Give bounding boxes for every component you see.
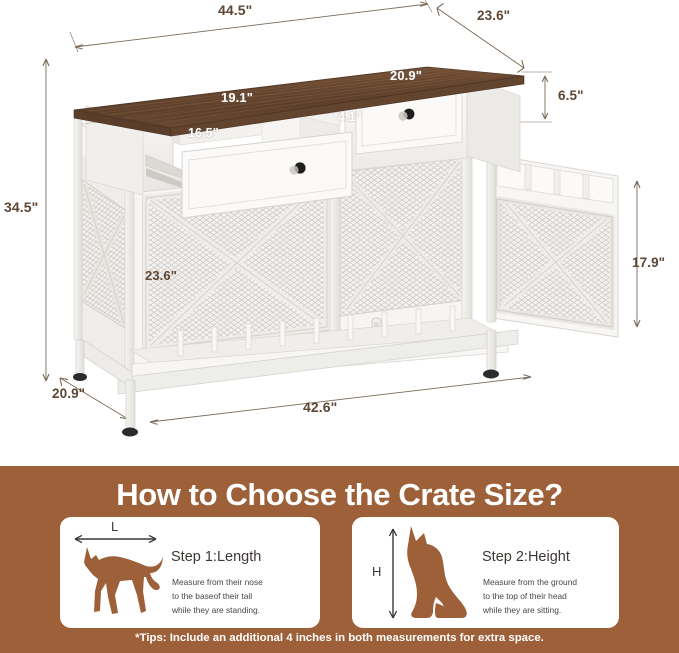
dim-base-width: 42.6" xyxy=(303,399,337,415)
step-2-line-1: Measure from the ground xyxy=(483,577,577,589)
dim-drawer-front-height: 6.5" xyxy=(558,88,584,103)
crate-dimension-diagram: 44.5" 23.6" 6.5" 20.9" 19.1" 16.5" 4.1" … xyxy=(0,0,679,466)
dim-door-height: 17.9" xyxy=(632,255,665,270)
length-arrow-label: L xyxy=(111,519,118,534)
dim-drawer-inner-height: 4.1" xyxy=(338,110,362,124)
dim-left-drawer-width: 19.1" xyxy=(221,90,253,105)
step-card-length: Step 1:Length Measure from their nose to… xyxy=(60,517,320,628)
crate-illustration xyxy=(0,0,679,466)
step-1-line-2: to the baseof their tail xyxy=(172,591,252,603)
step-1-title: Step 1:Length xyxy=(171,549,261,565)
step-1-line-1: Measure from their nose xyxy=(172,577,263,589)
how-to-choose-banner: How to Choose the Crate Size? Step 1:Len… xyxy=(0,466,679,653)
dim-crate-inner-depth: 23.6" xyxy=(145,268,177,283)
product-infographic: 44.5" 23.6" 6.5" 20.9" 19.1" 16.5" 4.1" … xyxy=(0,0,679,653)
height-arrow-label: H xyxy=(372,564,381,579)
step-2-line-3: while they are sitting. xyxy=(483,605,561,617)
dim-overall-height: 34.5" xyxy=(4,199,38,215)
length-arrow xyxy=(75,535,156,542)
dim-top-depth: 23.6" xyxy=(477,8,510,23)
banner-title: How to Choose the Crate Size? xyxy=(0,477,679,513)
dim-drawer-inner-depth: 16.5" xyxy=(188,126,219,140)
dim-base-depth: 20.9" xyxy=(52,386,85,401)
dim-top-width: 44.5" xyxy=(218,2,252,18)
open-crate-door xyxy=(487,152,618,337)
dog-standing-silhouette xyxy=(84,547,163,614)
step-1-line-3: while they are standing. xyxy=(172,605,260,617)
step-card-height: Step 2:Height Measure from the ground to… xyxy=(352,517,619,628)
dim-right-drawer-width: 20.9" xyxy=(390,68,422,83)
step-2-line-2: to the top of their head xyxy=(483,591,567,603)
height-arrow xyxy=(389,529,396,618)
step-2-title: Step 2:Height xyxy=(482,549,570,565)
tips-text: *Tips: Include an additional 4 inches in… xyxy=(0,632,679,644)
